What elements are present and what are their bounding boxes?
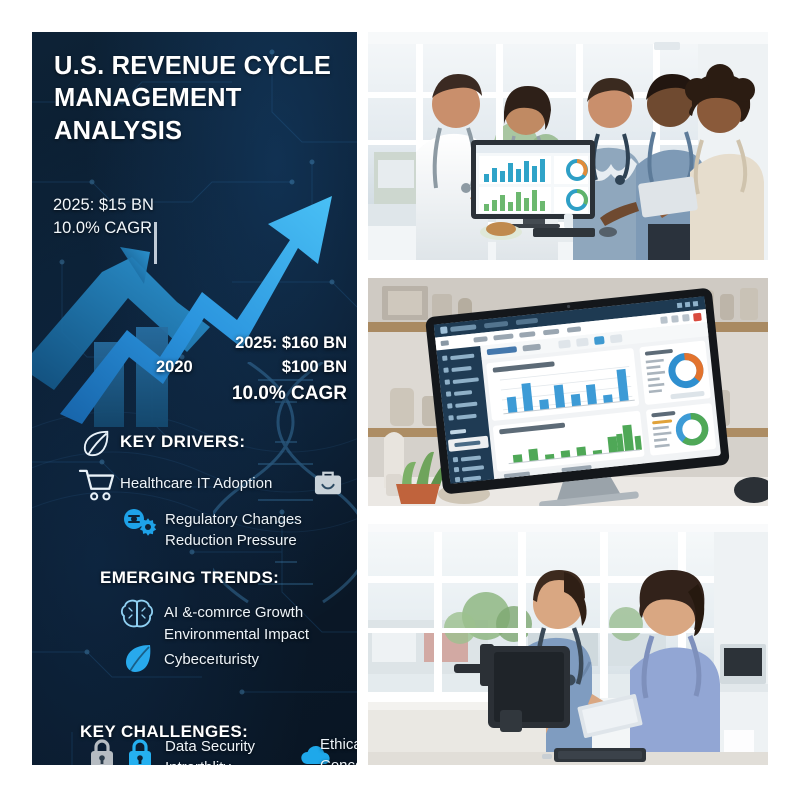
stat-block-middle: 2025: $160 BN 2020 $100 BN 10.0% CAGR xyxy=(132,332,347,407)
padlock-gray-icon xyxy=(88,737,116,765)
trend-item-cybersecurity: Cybeceıturisty xyxy=(164,649,259,670)
driver-item-reduction-pressure: Reduction Pressure xyxy=(165,530,297,551)
challenge-item-interoperability: Intrertblity xyxy=(165,757,231,765)
infographic-canvas: U.S. REVENUE CYCLE MANAGEMENT ANALYSIS 2… xyxy=(0,0,800,800)
stat-top-line-1: 2025: $15 BN xyxy=(53,194,154,217)
title-line-3: ANALYSIS xyxy=(54,115,344,147)
stat-block-top: 2025: $15 BN 10.0% CAGR xyxy=(53,194,154,241)
trend-item-environmental-impact: Environmental Impact xyxy=(164,624,309,645)
stat-mid-2020-value: $100 BN xyxy=(282,356,347,380)
stat-mid-2025: 2025: $160 BN xyxy=(132,332,347,356)
challenge-item-concerns: Concerns xyxy=(320,755,357,765)
padlock-blue-icon xyxy=(126,737,154,765)
brain-icon xyxy=(120,598,154,630)
title-line-2: MANAGEMENT xyxy=(54,82,344,114)
photo-medical-team xyxy=(368,32,768,260)
leaf-filled-icon xyxy=(122,642,154,674)
driver-item-healthcare-it: Healthcare IT Adoption xyxy=(120,473,272,494)
stat-mid-2020-year: 2020 xyxy=(156,356,193,380)
photo-analytics-dashboard xyxy=(368,278,768,506)
section-heading-key-drivers: KEY DRIVERS: xyxy=(120,432,245,452)
leaf-outline-icon xyxy=(82,428,112,458)
stat-mid-2020-row: 2020 $100 BN xyxy=(132,356,347,380)
stat-top-line-2: 10.0% CAGR xyxy=(53,217,154,240)
challenge-item-ethical: Ethical xyxy=(320,734,357,755)
stat-mid-cagr: 10.0% CAGR xyxy=(132,380,347,408)
gear-icon xyxy=(138,517,158,537)
page-title: U.S. REVENUE CYCLE MANAGEMENT ANALYSIS xyxy=(54,50,344,147)
title-line-1: U.S. REVENUE CYCLE xyxy=(54,50,344,82)
left-content-panel: U.S. REVENUE CYCLE MANAGEMENT ANALYSIS 2… xyxy=(32,32,357,765)
challenge-item-data-security: Data Security xyxy=(165,736,255,757)
driver-item-regulatory-changes: Regulatory Changes xyxy=(165,509,302,530)
photo-clinic-reception xyxy=(368,524,768,765)
shopping-cart-icon xyxy=(78,468,116,502)
medical-bag-icon xyxy=(313,469,343,497)
section-heading-emerging-trends: EMERGING TRENDS: xyxy=(100,568,279,588)
trend-item-ai-growth: AI &-comırce Growth xyxy=(164,602,303,623)
